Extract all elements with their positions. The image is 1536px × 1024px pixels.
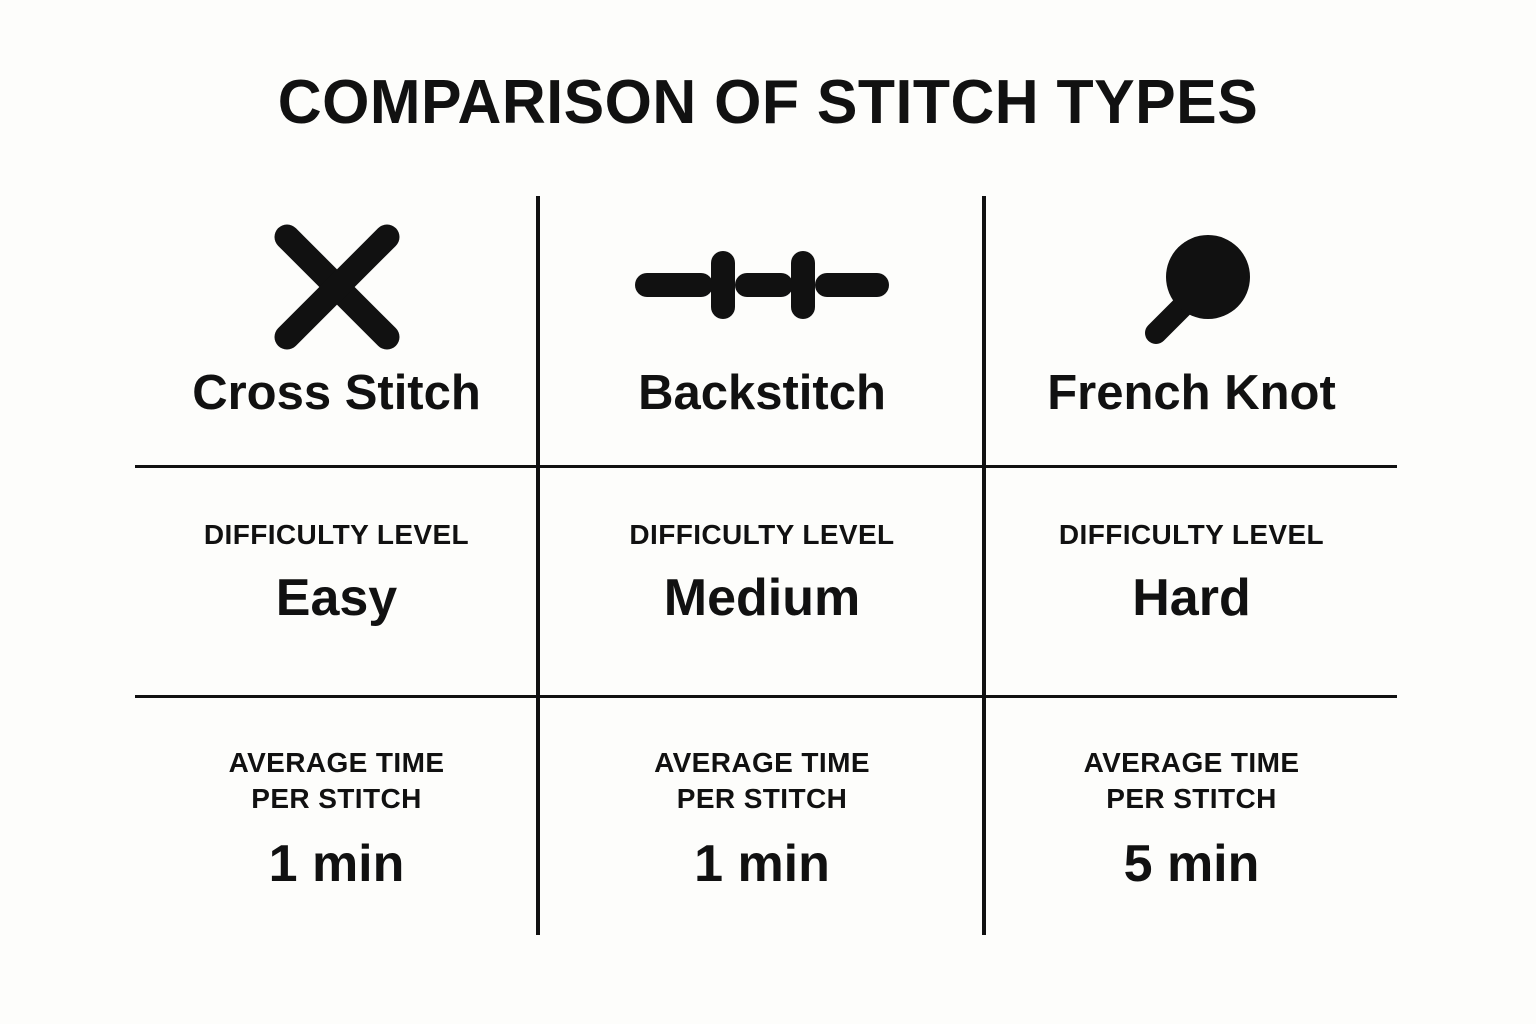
difficulty-value: Hard <box>986 553 1397 626</box>
page-title: COMPARISON OF STITCH TYPES <box>15 72 1520 134</box>
table-column-cross-stitch: Cross Stitch DIFFICULTY LEVEL Easy AVERA… <box>135 196 538 935</box>
table-cell-time-cross-stitch: AVERAGE TIME PER STITCH 1 min <box>135 695 538 935</box>
average-time-label: AVERAGE TIME PER STITCH <box>538 695 986 817</box>
table-cell-header-french-knot: French Knot <box>986 196 1397 465</box>
comparison-table: Cross Stitch DIFFICULTY LEVEL Easy AVERA… <box>135 196 1397 935</box>
average-time-value: 1 min <box>135 817 538 892</box>
table-cell-difficulty-cross-stitch: DIFFICULTY LEVEL Easy <box>135 465 538 695</box>
backstitch-icon <box>538 210 986 360</box>
table-cell-difficulty-backstitch: DIFFICULTY LEVEL Medium <box>538 465 986 695</box>
difficulty-value: Easy <box>135 553 538 626</box>
table-cell-header-cross-stitch: Cross Stitch <box>135 196 538 465</box>
difficulty-label: DIFFICULTY LEVEL <box>135 465 538 553</box>
stitch-name: Cross Stitch <box>135 368 538 419</box>
difficulty-label: DIFFICULTY LEVEL <box>538 465 986 553</box>
difficulty-value: Medium <box>538 553 986 626</box>
average-time-value: 1 min <box>538 817 986 892</box>
average-time-value: 5 min <box>986 817 1397 892</box>
stitch-comparison-infographic: COMPARISON OF STITCH TYPES <box>0 0 1536 1024</box>
cross-stitch-icon <box>135 210 538 360</box>
table-cell-time-backstitch: AVERAGE TIME PER STITCH 1 min <box>538 695 986 935</box>
average-time-label: AVERAGE TIME PER STITCH <box>135 695 538 817</box>
average-time-label: AVERAGE TIME PER STITCH <box>986 695 1397 817</box>
table-column-french-knot: French Knot DIFFICULTY LEVEL Hard AVERAG… <box>986 196 1397 935</box>
difficulty-label: DIFFICULTY LEVEL <box>986 465 1397 553</box>
table-cell-difficulty-french-knot: DIFFICULTY LEVEL Hard <box>986 465 1397 695</box>
french-knot-icon <box>986 210 1397 360</box>
table-columns: Cross Stitch DIFFICULTY LEVEL Easy AVERA… <box>135 196 1397 935</box>
table-cell-time-french-knot: AVERAGE TIME PER STITCH 5 min <box>986 695 1397 935</box>
stitch-name: French Knot <box>986 368 1397 419</box>
stitch-name: Backstitch <box>538 368 986 419</box>
table-cell-header-backstitch: Backstitch <box>538 196 986 465</box>
table-column-backstitch: Backstitch DIFFICULTY LEVEL Medium AVERA… <box>538 196 986 935</box>
